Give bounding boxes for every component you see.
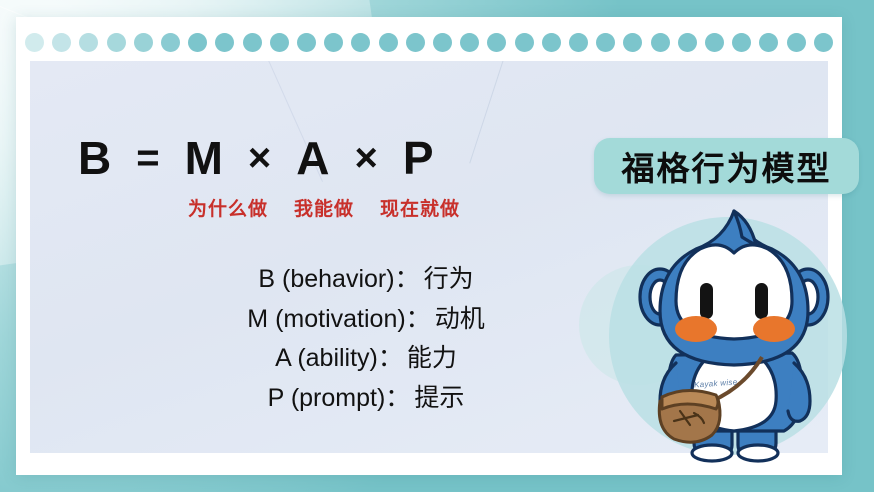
mascot-illustration xyxy=(616,205,846,473)
decorative-dot xyxy=(107,33,126,52)
decorative-dot xyxy=(569,33,588,52)
formula-term-p: P xyxy=(403,131,435,185)
decorative-dot xyxy=(79,33,98,52)
decorative-dot xyxy=(297,33,316,52)
decorative-dot xyxy=(596,33,615,52)
legend-separator: ： xyxy=(406,305,431,333)
legend-english: (prompt) xyxy=(291,384,385,412)
formula-term-b: B xyxy=(78,131,112,185)
legend-letter: P xyxy=(268,384,291,412)
title-badge: 福格行为模型 xyxy=(594,138,859,194)
legend-letter: A xyxy=(275,344,297,372)
decorative-dot xyxy=(406,33,425,52)
decorative-dot xyxy=(188,33,207,52)
legend-chinese: 行为 xyxy=(424,265,474,293)
legend-chinese: 能力 xyxy=(407,344,457,372)
decorative-dot xyxy=(25,33,44,52)
legend-english: (behavior) xyxy=(282,265,395,293)
legend-row: P (prompt)：提示 xyxy=(166,379,566,419)
decorative-dot xyxy=(678,33,697,52)
sub-label-prompt: 现在就做 xyxy=(380,194,460,221)
dot-border-decoration xyxy=(16,27,842,57)
decorative-dot xyxy=(759,33,778,52)
legend-separator: ： xyxy=(385,384,410,412)
legend-row: A (ability)：能力 xyxy=(166,339,566,379)
decorative-dot xyxy=(787,33,806,52)
formula-multiply-sign-2: × xyxy=(355,136,379,181)
formula-term-m: M xyxy=(185,131,224,185)
behavior-formula: B = M × A × P xyxy=(78,131,435,185)
decorative-dot xyxy=(134,33,153,52)
legend-chinese: 动机 xyxy=(435,305,485,333)
title-badge-label: 福格行为模型 xyxy=(622,142,832,190)
decorative-dot xyxy=(243,33,262,52)
decorative-dot xyxy=(215,33,234,52)
decorative-dot xyxy=(460,33,479,52)
content-card: B = M × A × P 为什么做 我能做 现在就做 B (behavior)… xyxy=(16,17,842,475)
decorative-dot xyxy=(651,33,670,52)
decorative-dot xyxy=(814,33,833,52)
legend-letter: M xyxy=(247,305,275,333)
legend-english: (ability) xyxy=(297,344,378,372)
legend-separator: ： xyxy=(378,344,403,372)
decorative-dot xyxy=(623,33,642,52)
decorative-dot xyxy=(732,33,751,52)
decorative-dot xyxy=(705,33,724,52)
decorative-dot xyxy=(52,33,71,52)
legend-row: M (motivation)：动机 xyxy=(166,300,566,340)
decorative-dot xyxy=(515,33,534,52)
decorative-dot xyxy=(379,33,398,52)
sub-label-ability: 我能做 xyxy=(294,194,354,221)
decorative-dot xyxy=(161,33,180,52)
sub-label-motivation: 为什么做 xyxy=(188,194,268,221)
formula-sub-labels: 为什么做 我能做 现在就做 xyxy=(188,194,460,221)
legend-chinese: 提示 xyxy=(414,384,464,412)
decorative-dot xyxy=(487,33,506,52)
formula-multiply-sign-1: × xyxy=(248,136,272,181)
formula-legend-list: B (behavior)：行为M (motivation)：动机A (abili… xyxy=(166,260,566,418)
decorative-dot xyxy=(270,33,289,52)
legend-row: B (behavior)：行为 xyxy=(166,260,566,300)
formula-equals-sign: = xyxy=(136,136,160,181)
decorative-dot xyxy=(324,33,343,52)
decorative-dot xyxy=(542,33,561,52)
legend-english: (motivation) xyxy=(275,305,406,333)
formula-term-a: A xyxy=(296,131,330,185)
legend-letter: B xyxy=(258,265,282,293)
legend-separator: ： xyxy=(395,265,420,293)
decorative-dot xyxy=(351,33,370,52)
slide-canvas: B = M × A × P 为什么做 我能做 现在就做 B (behavior)… xyxy=(0,0,874,492)
decorative-dot xyxy=(433,33,452,52)
